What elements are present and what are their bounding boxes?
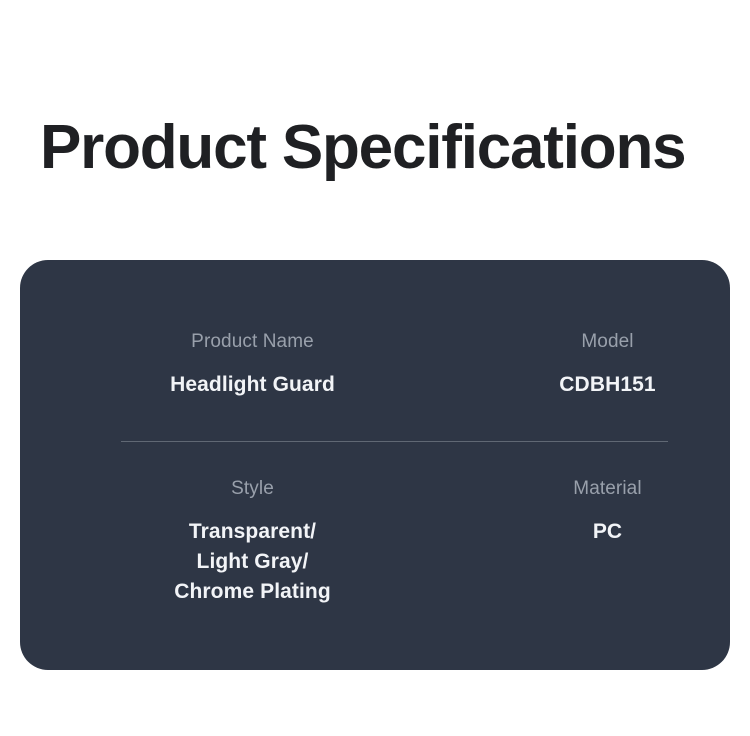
spec-value: Transparent/ Light Gray/ Chrome Plating (20, 517, 485, 607)
spec-label: Material (485, 477, 730, 501)
spec-label: Style (20, 477, 485, 501)
spec-item-product-name: Product Name Headlight Guard (20, 330, 485, 400)
spec-value: CDBH151 (485, 370, 730, 400)
spec-item-style: Style Transparent/ Light Gray/ Chrome Pl… (20, 477, 485, 607)
product-specifications-page: Product Specifications Product Name Head… (0, 0, 750, 736)
page-title: Product Specifications (40, 110, 720, 186)
spec-value: PC (485, 517, 730, 547)
spec-divider (121, 441, 668, 442)
spec-label: Model (485, 330, 730, 354)
spec-item-material: Material PC (485, 477, 730, 547)
spec-row: Product Name Headlight Guard Model CDBH1… (20, 330, 730, 400)
specifications-card: Product Name Headlight Guard Model CDBH1… (20, 260, 730, 670)
spec-row: Style Transparent/ Light Gray/ Chrome Pl… (20, 477, 730, 607)
spec-item-model: Model CDBH151 (485, 330, 730, 400)
spec-value: Headlight Guard (20, 370, 485, 400)
spec-label: Product Name (20, 330, 485, 354)
specifications-grid: Product Name Headlight Guard Model CDBH1… (20, 260, 730, 670)
